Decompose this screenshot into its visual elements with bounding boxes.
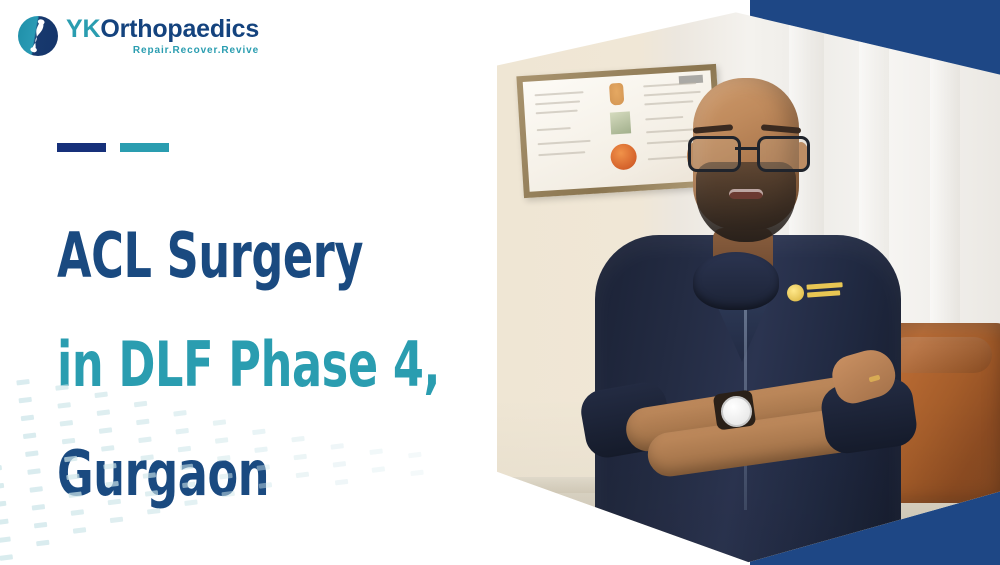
headline-line-1: ACL Surgery [57,229,473,284]
promotional-banner: YKOrthopaedics Repair.Recover.Revive ACL… [0,0,1000,565]
brand-logo[interactable]: YKOrthopaedics Repair.Recover.Revive [18,16,259,56]
headline-line-2: in DLF Phase 4, [57,338,473,393]
wrist-watch [721,396,752,427]
brand-name: YKOrthopaedics [66,17,259,42]
brand-tagline: Repair.Recover.Revive [66,46,259,56]
beard [696,162,796,242]
teal-accent-bar [120,143,169,152]
doctor-photo [497,0,1000,565]
accent-bars [57,143,477,152]
brand-name-orthopaedics: Orthopaedics [100,15,259,43]
page-title: ACL Surgery in DLF Phase 4, Gurgaon [57,174,473,556]
navy-accent-bar [57,143,106,152]
brand-wordmark: YKOrthopaedics Repair.Recover.Revive [66,17,259,56]
yk-orthopaedics-joint-icon [18,16,58,56]
mouth [729,189,763,199]
lens-left [688,136,741,172]
jacket-collar [693,252,779,310]
lens-right [757,136,810,172]
eyeglasses [686,136,806,166]
brand-name-yk: YK [66,15,100,43]
headline-line-3: Gurgaon [57,447,473,502]
headline-block: ACL Surgery in DLF Phase 4, Gurgaon [57,143,477,565]
yk-orthopaedics-embroidered-badge [786,280,845,304]
glasses-bridge [735,147,757,150]
doctor-figure [497,0,1000,565]
